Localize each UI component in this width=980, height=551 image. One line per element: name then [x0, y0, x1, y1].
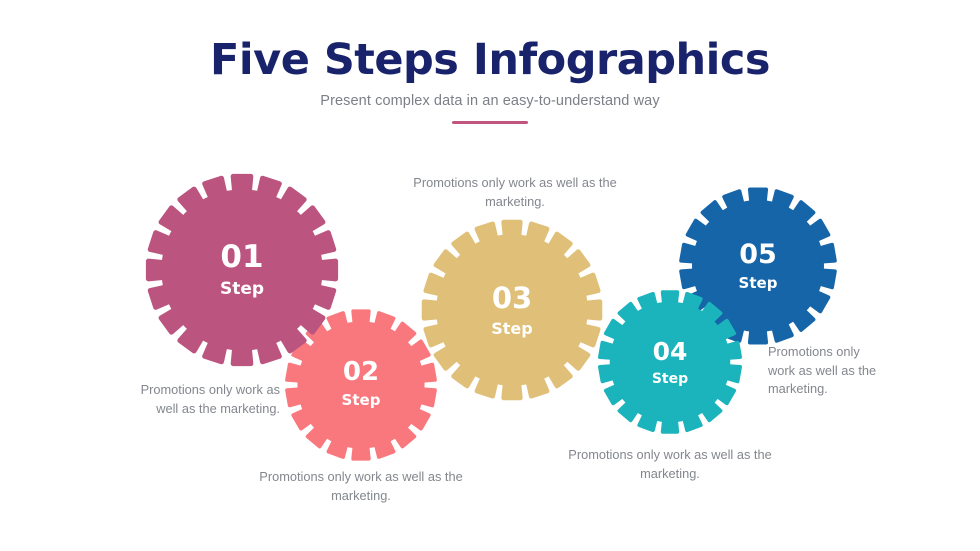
gear-shape-icon — [419, 217, 605, 403]
gear-shape-icon — [596, 288, 744, 436]
step-caption-04: Promotions only work as well as the mark… — [567, 446, 773, 483]
step-gear-03[interactable]: 03 Step — [419, 217, 605, 403]
infographic-slide: Five Steps Infographics Present complex … — [0, 0, 980, 551]
gear-shape-icon — [143, 171, 341, 369]
step-gear-04[interactable]: 04 Step — [596, 288, 744, 436]
step-caption-01: Promotions only work as well as the mark… — [128, 381, 280, 418]
step-caption-05: Promotions only work as well as the mark… — [768, 343, 890, 399]
step-gear-01[interactable]: 01 Step — [143, 171, 341, 369]
step-caption-02: Promotions only work as well as the mark… — [258, 468, 464, 505]
gear-diagram: 01 Step 02 Step 03 Step — [0, 0, 980, 551]
step-caption-03: Promotions only work as well as the mark… — [412, 174, 618, 211]
